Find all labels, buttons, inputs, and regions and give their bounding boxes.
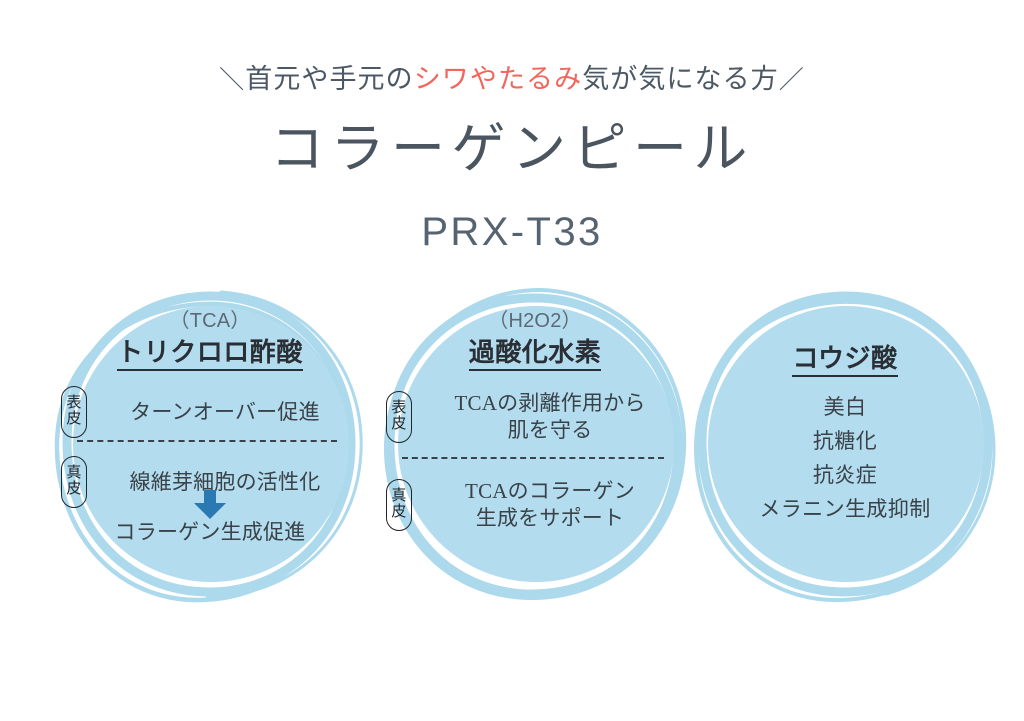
effect-list: 美白 抗糖化 抗炎症 メラニン生成抑制 [690, 390, 1000, 526]
epidermis-effect-text: TCAの剥離作用から 肌を守る [412, 390, 686, 444]
ingredient-bubble-tca: （TCA） トリクロロ酢酸 表 皮 ターンオーバー促進 真 皮 線維芽細胞の活性… [55, 292, 365, 602]
badge-char-2: 皮 [391, 505, 406, 521]
badge-char-2: 皮 [391, 417, 406, 433]
effect-item: 抗糖化 [690, 424, 1000, 458]
badge-char-2: 皮 [66, 412, 81, 428]
eyebrow-text-part1: 首元や手元の [245, 64, 413, 94]
poster-canvas: ＼首元や手元のシワやたるみ気が気になる方／ コラーゲンピール PRX-T33 （… [0, 0, 1024, 721]
epidermis-row: 表 皮 TCAの剥離作用から 肌を守る [386, 390, 686, 444]
effect-item: 抗炎症 [690, 458, 1000, 492]
slash-right-icon: ／ [779, 60, 805, 96]
badge-char-1: 真 [66, 466, 81, 482]
dermis-line-2: 生成をサポート [414, 505, 686, 532]
chemical-formula-label: （TCA） [55, 304, 365, 333]
page-title: コラーゲンピール [0, 104, 1024, 183]
badge-char-1: 表 [66, 396, 81, 412]
epidermis-line-1: TCAの剥離作用から [414, 390, 686, 417]
slash-left-icon: ＼ [219, 60, 245, 96]
layer-divider [77, 440, 337, 442]
epidermis-badge: 表 皮 [386, 391, 412, 443]
ingredient-name: コウジ酸 [690, 338, 1000, 375]
ingredient-name: トリクロロ酢酸 [55, 332, 365, 369]
epidermis-row: 表 皮 ターンオーバー促進 [61, 386, 361, 438]
ingredient-bubble-kojic-acid: コウジ酸 美白 抗糖化 抗炎症 メラニン生成抑制 [690, 292, 1000, 602]
badge-char-1: 真 [391, 489, 406, 505]
effect-item: 美白 [690, 390, 1000, 424]
dermis-row: 真 皮 TCAのコラーゲン 生成をサポート [386, 478, 686, 532]
badge-char-1: 表 [391, 401, 406, 417]
epidermis-badge: 表 皮 [61, 386, 87, 438]
epidermis-line-2: 肌を守る [414, 417, 686, 444]
eyebrow-catchcopy: ＼首元や手元のシワやたるみ気が気になる方／ [0, 57, 1024, 96]
ingredient-name: 過酸化水素 [380, 332, 690, 369]
chemical-formula-label: （H2O2） [380, 304, 690, 333]
dermis-effect-text: TCAのコラーゲン 生成をサポート [412, 478, 686, 532]
dermis-badge: 真 皮 [386, 479, 412, 531]
epidermis-effect-text: ターンオーバー促進 [87, 399, 361, 426]
eyebrow-text-highlight: シワやたるみ [414, 64, 582, 94]
product-code: PRX-T33 [0, 210, 1024, 255]
effect-item: メラニン生成抑制 [690, 492, 1000, 526]
eyebrow-text-part2: 気が気になる方 [582, 64, 779, 94]
dermis-line-1: TCAのコラーゲン [414, 478, 686, 505]
layer-divider [402, 457, 664, 459]
result-text: コラーゲン生成促進 [55, 516, 365, 546]
ingredient-bubble-h2o2: （H2O2） 過酸化水素 表 皮 TCAの剥離作用から 肌を守る 真 皮 [380, 292, 690, 602]
